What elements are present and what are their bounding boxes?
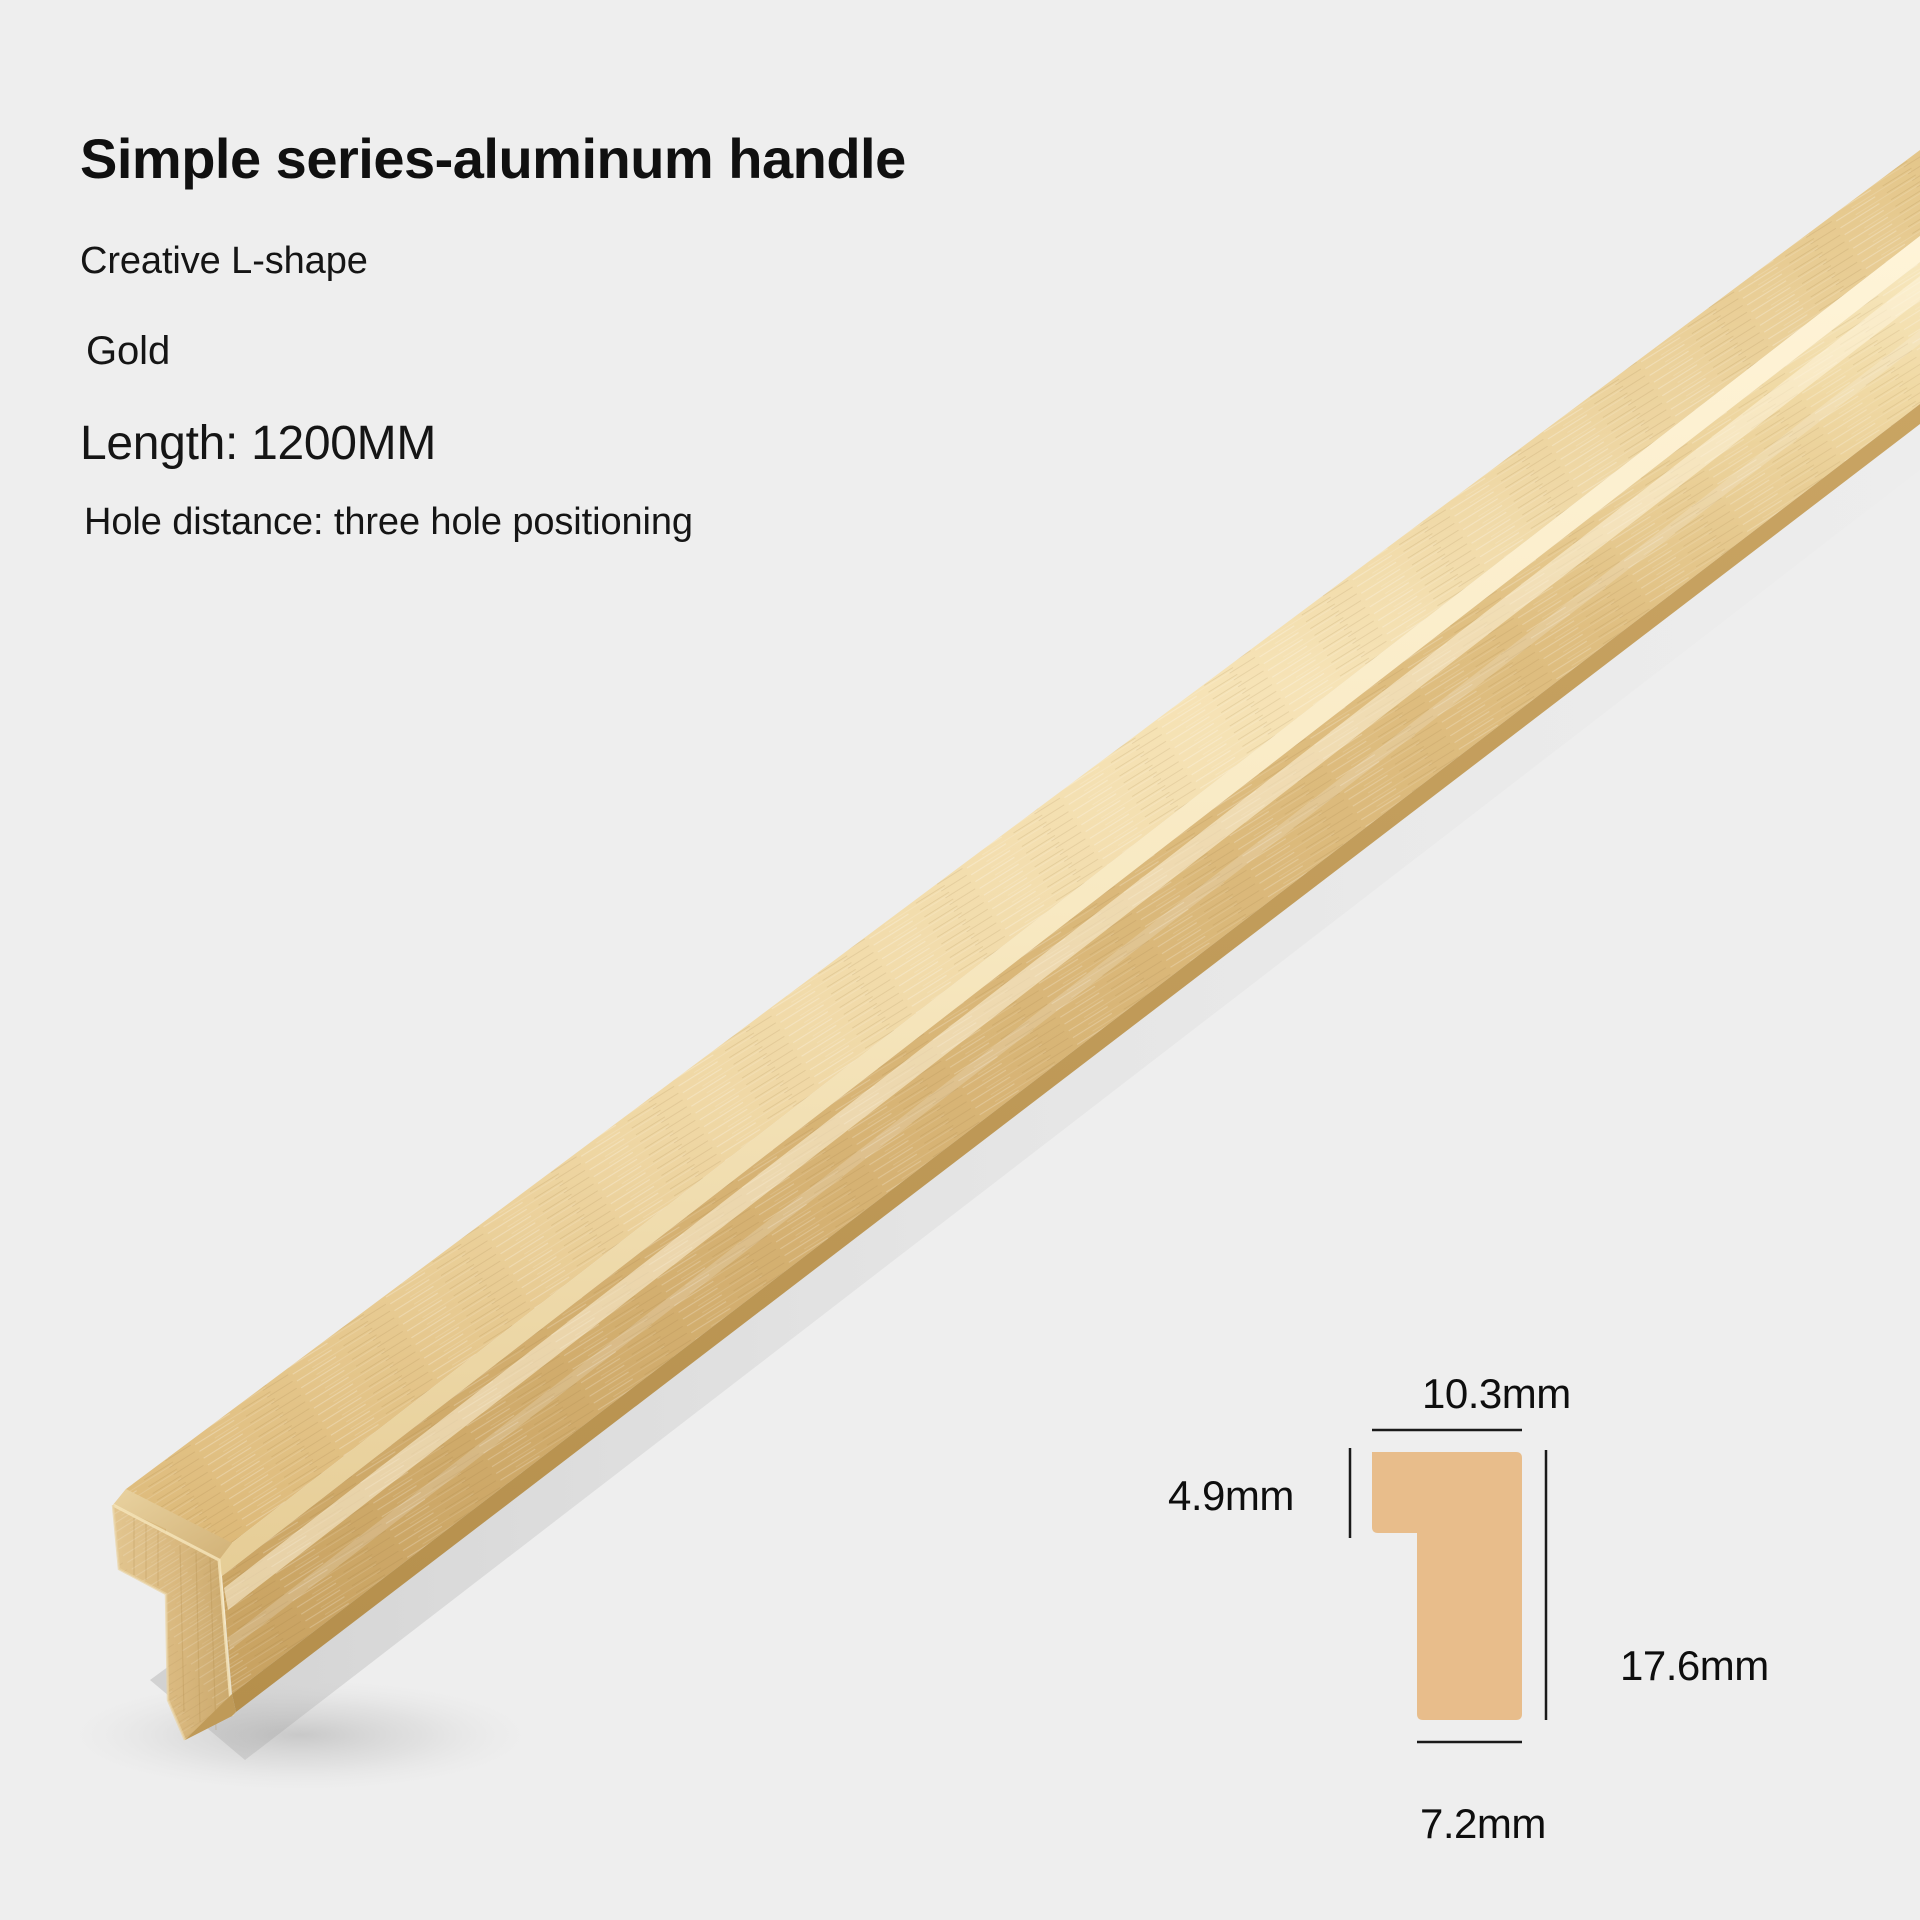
spec-length: Length: 1200MM (80, 416, 906, 471)
dim-label-width: 10.3mm (1422, 1370, 1571, 1418)
spec-color: Gold (86, 329, 906, 374)
spec-hole-distance: Hole distance: three hole positioning (84, 501, 906, 544)
profile-shape (1372, 1452, 1522, 1720)
endcap-face (113, 1505, 232, 1740)
handle-end-cap (113, 1489, 236, 1740)
cross-section-diagram: 10.3mm 4.9mm 17.6mm 7.2mm (1150, 1380, 1890, 1880)
dim-label-web-width: 7.2mm (1420, 1800, 1546, 1848)
endcap-notch-underside (119, 1529, 166, 1594)
spec-shape: Creative L-shape (80, 240, 906, 283)
product-info-block: Simple series-aluminum handle Creative L… (80, 126, 906, 544)
endcap-flange-left-face (113, 1505, 166, 1594)
page-title: Simple series-aluminum handle (80, 126, 906, 192)
endcap-foot (185, 1694, 236, 1740)
dim-label-flange-thickness: 4.9mm (1168, 1472, 1294, 1520)
dim-label-height: 17.6mm (1620, 1642, 1769, 1690)
endcap-flange-top (113, 1489, 232, 1560)
